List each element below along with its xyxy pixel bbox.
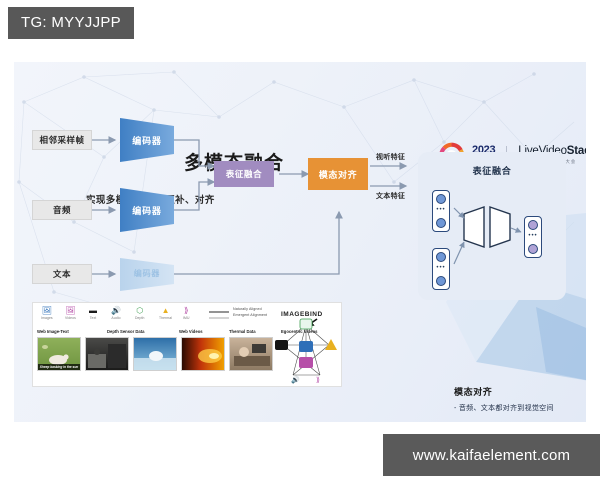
alignment-note-heading: 模态对齐	[454, 385, 492, 398]
telegram-watermark-badge: TG: MYYJJPP	[8, 7, 134, 39]
flow-encoder-1-label: 编码器	[132, 134, 161, 147]
thumbnail-egocentric	[229, 337, 273, 371]
flow-fusion-label: 表征融合	[226, 168, 262, 180]
legend-naturally-aligned: Naturally Aligned	[233, 307, 262, 311]
thumbnail-sheep: Sheep basking in the sun	[37, 337, 81, 371]
thermal-icon: ▲ Thermal	[159, 306, 172, 320]
flow-alignment-label: 模态对齐	[319, 168, 357, 181]
flow-input-frames-label: 相邻采样帧	[39, 134, 84, 146]
fusion-encoder-decoder-graphic	[418, 152, 566, 300]
audio-label: Audio	[111, 316, 121, 320]
text-glyph: ▬	[89, 306, 97, 316]
videos-label: Videos	[65, 316, 76, 320]
flow-encoder-1[interactable]: 编码器	[120, 128, 174, 152]
telegram-watermark-text: TG: MYYJJPP	[21, 14, 121, 31]
screenshot-root: TG: MYYJJPP	[0, 0, 600, 480]
flow-output-text-label: 文本特征	[376, 191, 405, 201]
row-label-thermal-data: Thermal Data	[229, 329, 256, 334]
alignment-note-bullet: - 音频、文本都对齐到视觉空间	[454, 403, 554, 413]
legend-line-swatches	[209, 309, 231, 321]
depth-icon: ⬡ Depth	[135, 306, 145, 320]
imu-label: IMU	[183, 316, 190, 320]
flow-encoder-3[interactable]: 编码器	[120, 265, 174, 281]
imagebind-graph: 🔊 ⟫	[271, 317, 341, 385]
flow-input-text-label: 文本	[53, 268, 71, 280]
flow-input-frames[interactable]: 相邻采样帧	[32, 130, 92, 150]
imagebind-figure: 🖼 Images 🖼 Videos ▬ Text 🔊 Audio ⬡	[32, 302, 342, 387]
thumbnail-sheep-caption: Sheep basking in the sun	[38, 364, 80, 370]
imu-glyph: ⟫	[183, 306, 190, 316]
flow-input-audio-label: 音频	[53, 204, 71, 216]
row-label-web-image-text: Web Image-Text	[37, 329, 69, 334]
flow-alignment-node[interactable]: 模态对齐	[308, 158, 368, 190]
audio-glyph: 🔊	[111, 306, 121, 316]
flow-encoder-2-label: 编码器	[132, 204, 161, 217]
flow-fusion-node[interactable]: 表征融合	[214, 161, 274, 187]
text-label: Text	[89, 316, 97, 320]
svg-text:⟫: ⟫	[316, 376, 320, 384]
text-icon: ▬ Text	[89, 306, 97, 320]
flow-input-text[interactable]: 文本	[32, 264, 92, 284]
row-label-web-videos: Web Videos	[179, 329, 203, 334]
flow-input-audio[interactable]: 音频	[32, 200, 92, 220]
depth-glyph: ⬡	[135, 306, 145, 316]
flow-encoder-2[interactable]: 编码器	[120, 198, 174, 222]
videos-glyph: 🖼	[65, 306, 76, 316]
images-label: Images	[41, 316, 53, 320]
thumbnail-web-video	[133, 337, 177, 371]
site-watermark-text: www.kaifaelement.com	[413, 447, 570, 464]
row-label-depth-sensor: Depth Sensor Data	[107, 329, 144, 334]
flow-encoder-3-label: 编码器	[134, 268, 160, 279]
svg-text:🔊: 🔊	[291, 375, 300, 384]
thermal-glyph: ▲	[159, 306, 172, 316]
thumbnail-depth-room	[85, 337, 129, 371]
images-icon: 🖼 Images	[41, 306, 53, 320]
audio-icon: 🔊 Audio	[111, 306, 121, 320]
depth-label: Depth	[135, 316, 145, 320]
flow-output-audiovisual-label: 视听特征	[376, 152, 405, 162]
presentation-slide: 多模态融合 实现多模态的信息互补、对齐 LiveVideo	[14, 62, 586, 422]
thumbnail-thermal	[181, 337, 225, 371]
images-glyph: 🖼	[41, 306, 53, 316]
site-watermark-badge: www.kaifaelement.com	[383, 434, 600, 476]
legend-emergent-alignment: Emergent Alignment	[233, 313, 267, 317]
fusion-detail-panel: 表征融合 ••• ••• •••	[418, 152, 566, 300]
imu-icon: ⟫ IMU	[183, 306, 190, 320]
thermal-label: Thermal	[159, 316, 172, 320]
videos-icon: 🖼 Videos	[65, 306, 76, 320]
